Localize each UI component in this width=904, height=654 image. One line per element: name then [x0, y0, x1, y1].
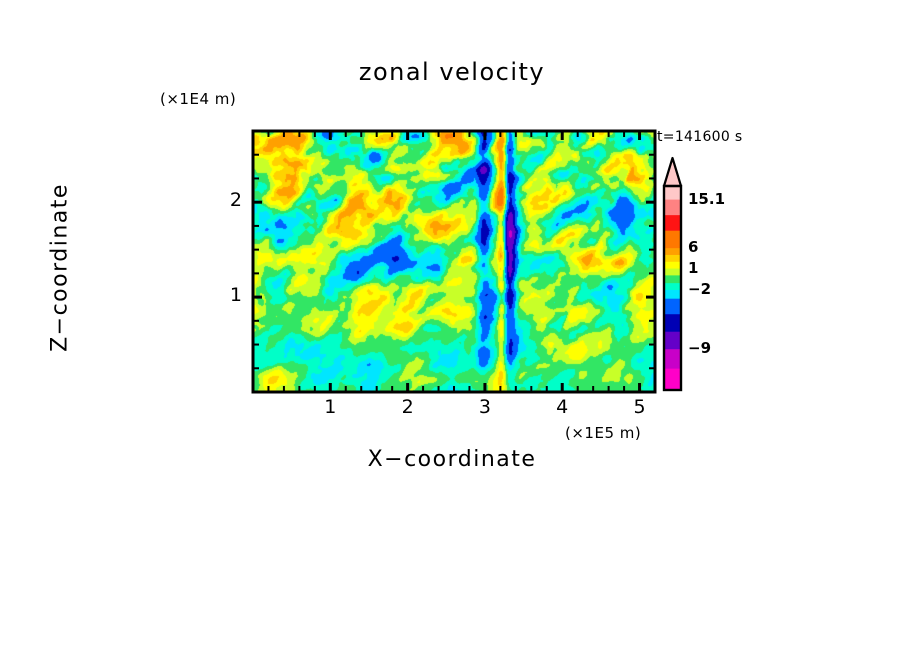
colorbar-band [664, 369, 681, 391]
colorbar-band [664, 186, 681, 200]
y-tick-label: 1 [222, 284, 242, 306]
colorbar-band [664, 262, 681, 269]
colorbar-label: −9 [688, 339, 711, 357]
colorbar-band [664, 349, 681, 369]
x-tick-label: 4 [547, 396, 577, 418]
colorbar-label: 1 [688, 259, 698, 277]
colorbar-band [664, 299, 681, 315]
colorbar-arrow-cap [664, 158, 681, 186]
colorbar-band [664, 314, 681, 332]
colorbar-label: −2 [688, 280, 711, 298]
colorbar-band [664, 215, 681, 231]
colorbar [664, 158, 681, 391]
contour-plot [0, 0, 904, 654]
colorbar-label: 6 [688, 238, 698, 256]
x-tick-label: 1 [315, 396, 345, 418]
colorbar-band [664, 269, 681, 276]
colorbar-band [664, 200, 681, 216]
x-tick-label: 3 [470, 396, 500, 418]
velocity-field [253, 131, 655, 392]
x-axis-label: X−coordinate [0, 447, 904, 472]
colorbar-label: 15.1 [688, 190, 725, 208]
colorbar-band [664, 283, 681, 290]
colorbar-band [664, 231, 681, 249]
colorbar-band [664, 248, 681, 255]
x-axis-unit-label: (×1E5 m) [565, 424, 641, 442]
colorbar-band [664, 255, 681, 262]
y-axis-label: Z−coordinate [48, 143, 73, 393]
colorbar-band [664, 290, 681, 299]
x-tick-label: 5 [625, 396, 655, 418]
figure-canvas: zonal velocity (×1E4 m) t=141600 s X−coo… [0, 0, 904, 654]
colorbar-band [664, 275, 681, 283]
colorbar-band [664, 332, 681, 350]
field-raster [253, 131, 655, 392]
y-tick-label: 2 [222, 189, 242, 211]
x-tick-label: 2 [393, 396, 423, 418]
